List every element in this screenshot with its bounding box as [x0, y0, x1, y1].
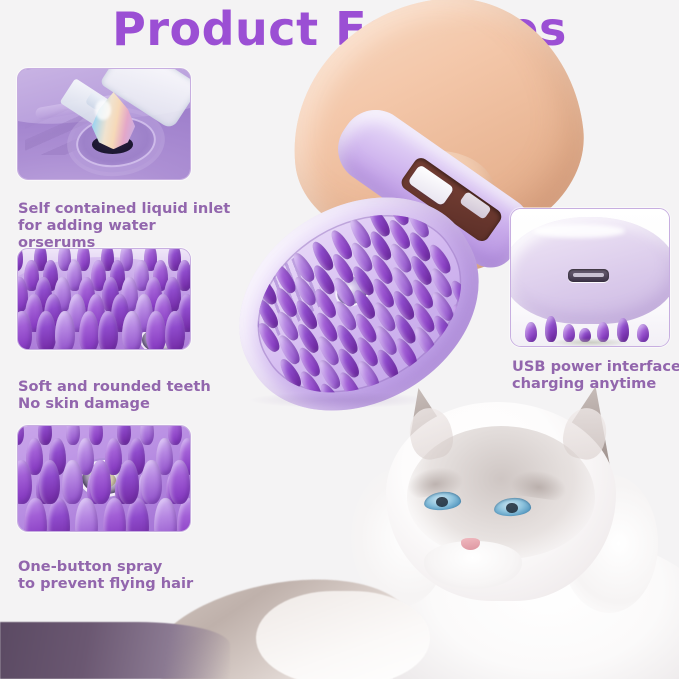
bristle-tooth — [118, 460, 139, 504]
cat-paw-fur — [256, 591, 430, 679]
desk-surface — [0, 622, 230, 679]
cat-nose — [461, 538, 480, 550]
feature-caption-liquid-inlet: Self contained liquid inlet for adding w… — [18, 200, 238, 252]
droplet-highlight — [95, 100, 110, 120]
product-shadow — [549, 338, 631, 347]
bristle-tooth — [169, 460, 190, 504]
feature-panel-liquid-inlet — [17, 68, 191, 180]
bristle-tooth — [165, 311, 185, 350]
body-highlight — [533, 224, 625, 238]
bristle-tooth — [79, 311, 99, 350]
bristle-tooth — [39, 460, 60, 504]
feature-caption-rounded-teeth: Soft and rounded teeth No skin damage — [18, 378, 238, 412]
main-product-image — [226, 60, 526, 410]
bristle-field — [511, 306, 669, 342]
bristle-tooth — [637, 324, 649, 342]
bristle-tooth — [141, 460, 162, 504]
feature-caption-usb-charging: USB power interface charging anytime — [512, 358, 679, 392]
feature-caption-one-button-spray: One-button spray to prevent flying hair — [18, 558, 238, 592]
bristle-tooth — [98, 311, 118, 350]
feature-panel-usb-charging — [510, 208, 670, 347]
usb-port-pin — [573, 273, 605, 276]
feature-panel-rounded-teeth — [17, 248, 191, 350]
bristle-tooth — [36, 311, 56, 350]
bristle-tooth — [66, 425, 80, 445]
infographic-canvas: Product Features — [0, 0, 679, 679]
bristle-tooth — [525, 322, 537, 342]
feature-panel-one-button-spray — [17, 425, 191, 532]
bristle-tooth — [122, 311, 142, 350]
bristle-tooth — [146, 311, 166, 350]
bristle-tooth — [62, 460, 83, 504]
bristle-tooth — [90, 460, 111, 504]
bristle-tooth — [55, 311, 75, 350]
bristle-tooth — [545, 316, 557, 342]
